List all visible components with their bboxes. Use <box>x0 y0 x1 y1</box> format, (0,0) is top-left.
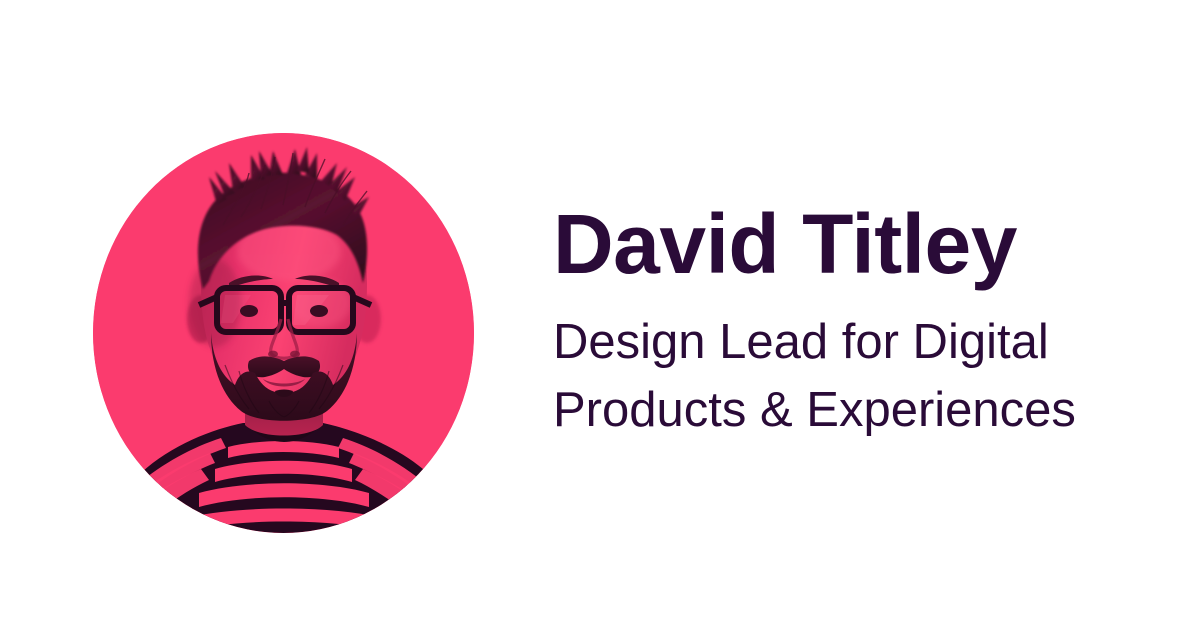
profile-card: David Titley Design Lead for Digital Pro… <box>0 0 1200 627</box>
avatar <box>93 133 474 533</box>
avatar-portrait-image <box>93 133 474 533</box>
person-role: Design Lead for Digital Products & Exper… <box>553 308 1143 444</box>
profile-text-block: David Titley Design Lead for Digital Pro… <box>553 196 1153 444</box>
person-name: David Titley <box>553 196 1153 292</box>
